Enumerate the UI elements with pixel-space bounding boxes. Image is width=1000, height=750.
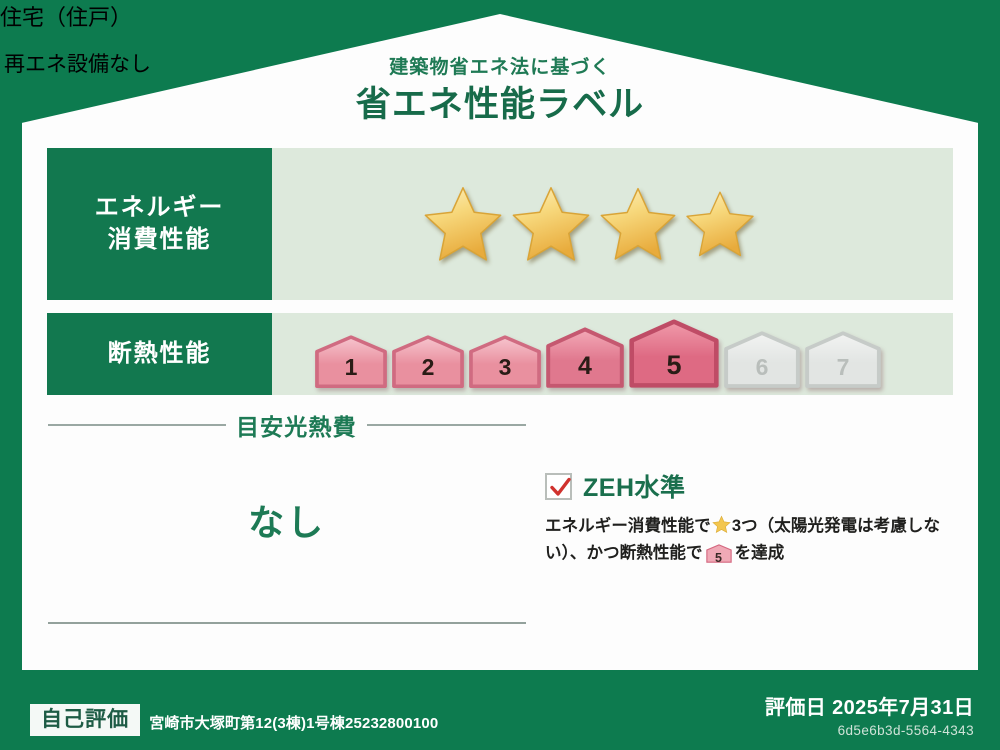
utility-cost-bottom-divider (48, 622, 526, 624)
star-rating (272, 183, 756, 265)
insulation-performance-row: 断熱性能 1234567 (47, 313, 953, 395)
zeh-title: ZEH水準 (583, 468, 686, 504)
badge-building-type: 住宅（住戸） (0, 0, 166, 48)
footer: 自己評価 宮崎市大塚町第12(3棟)1号棟25232800100 評価日 202… (0, 672, 1000, 750)
divider-right (367, 424, 526, 426)
label-id: 6d5e6b3d-5564-4343 (765, 723, 974, 738)
insulation-grade-3: 3 (468, 335, 542, 389)
star-icon (510, 183, 592, 265)
energy-performance-value (272, 148, 953, 300)
energy-label-line2: 消費性能 (108, 224, 212, 256)
star-icon (422, 183, 504, 265)
energy-performance-label: エネルギー 消費性能 (47, 148, 272, 300)
zeh-title-row: ZEH水準 (545, 468, 960, 504)
house-icon: 5 (706, 544, 732, 563)
zeh-description: エネルギー消費性能で3つ（太陽光発電は考慮しない）、かつ断熱性能で5を達成 (545, 513, 960, 566)
utility-cost-heading: 目安光熱費 (48, 408, 526, 442)
insulation-label-text: 断熱性能 (108, 338, 212, 370)
footer-right: 評価日 2025年7月31日 6d5e6b3d-5564-4343 (765, 691, 974, 738)
header-block: 建築物省エネ法に基づく 省エネ性能ラベル (0, 58, 1000, 124)
footer-left: 自己評価 宮崎市大塚町第12(3棟)1号棟25232800100 (30, 704, 438, 736)
utility-cost-value: なし (48, 494, 526, 546)
insulation-performance-label: 断熱性能 (47, 313, 272, 395)
insulation-grade-number: 4 (578, 352, 592, 389)
star-icon (712, 515, 731, 534)
insulation-grade-number: 6 (756, 354, 769, 389)
insulation-grade-6: 6 (723, 331, 801, 389)
zeh-desc-part1: エネルギー消費性能で (545, 517, 711, 535)
star-icon (598, 184, 678, 264)
insulation-grade-number: 1 (345, 354, 358, 389)
check-icon (549, 476, 572, 499)
insulation-grade-number: 2 (422, 354, 435, 389)
page-title: 省エネ性能ラベル (0, 86, 1000, 125)
zeh-section: ZEH水準 エネルギー消費性能で3つ（太陽光発電は考慮しない）、かつ断熱性能で5… (545, 468, 960, 566)
evaluation-date: 評価日 2025年7月31日 (765, 691, 974, 720)
badge-self-evaluation: 自己評価 (30, 704, 140, 736)
energy-performance-row: エネルギー 消費性能 (47, 148, 953, 300)
footer-address: 宮崎市大塚町第12(3棟)1号棟25232800100 (149, 712, 438, 736)
divider-left (48, 424, 226, 426)
insulation-grade-2: 2 (391, 335, 465, 389)
insulation-grade-4: 4 (545, 327, 625, 389)
insulation-grade-scale: 1234567 (272, 319, 882, 389)
insulation-grade-1: 1 (314, 335, 388, 389)
evaluation-date-value: 2025年7月31日 (832, 697, 974, 719)
zeh-desc-house-number: 5 (715, 551, 722, 565)
zeh-checkbox[interactable] (545, 473, 572, 500)
energy-performance-label-card: 住宅（住戸） 再エネ設備なし 建築物省エネ法に基づく 省エネ性能ラベル エネルギ… (0, 0, 1000, 750)
insulation-grade-number: 5 (666, 350, 681, 389)
insulation-grade-number: 7 (837, 354, 850, 389)
evaluation-date-label: 評価日 (765, 697, 826, 719)
star-icon (684, 188, 756, 260)
zeh-desc-part3: を達成 (735, 544, 785, 562)
insulation-grade-5: 5 (628, 319, 720, 389)
utility-cost-section: 目安光熱費 なし (48, 408, 526, 546)
energy-label-line1: エネルギー (95, 192, 225, 224)
insulation-performance-value: 1234567 (272, 313, 953, 395)
insulation-grade-number: 3 (499, 354, 512, 389)
utility-cost-heading-text: 目安光熱費 (236, 408, 357, 442)
insulation-grade-7: 7 (804, 331, 882, 389)
label-subtitle: 建築物省エネ法に基づく (0, 58, 1000, 79)
